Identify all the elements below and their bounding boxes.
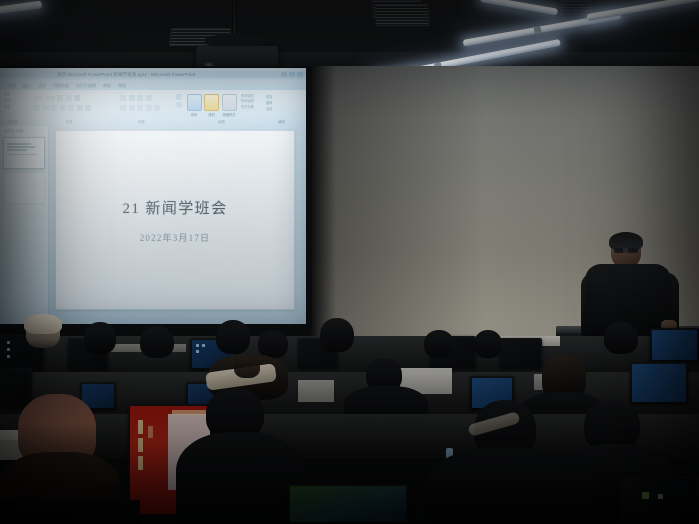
classroom-photo: 演示 Microsoft PowerPoint 新闻学班会.pptx - Mic… <box>0 0 699 524</box>
thumbnail-rule <box>7 154 37 155</box>
bullets-icon[interactable] <box>120 95 126 101</box>
shapes-label: 形状 <box>187 112 202 117</box>
ribbon-group-label-paragraph: 段落 <box>138 119 145 124</box>
clipboard-copy-label[interactable]: 复制 <box>4 105 10 109</box>
arrange-icon[interactable] <box>204 94 219 111</box>
window-buttons[interactable] <box>281 72 303 77</box>
student-head <box>320 318 354 352</box>
student-head <box>424 330 454 358</box>
monitor-screen <box>652 330 697 360</box>
monitor-screen <box>290 486 406 522</box>
projector-mount-pole <box>232 0 237 38</box>
arrange-label: 排列 <box>204 112 219 117</box>
desktop-icon <box>196 344 199 347</box>
student-monitor <box>620 476 699 524</box>
ribbon-group-label-clipboard: 剪贴板 <box>8 119 18 124</box>
slide-thumbnail-1[interactable] <box>3 137 45 169</box>
thumbnail-text-lines <box>7 143 35 151</box>
desktop-icon <box>7 348 10 351</box>
instructor-glasses <box>614 248 638 253</box>
monitor-text-line <box>148 426 153 438</box>
ribbon[interactable]: 粘贴 剪切 复制 剪贴板 <box>0 90 306 127</box>
tab-design[interactable]: 设计 <box>38 83 46 89</box>
justify-icon[interactable] <box>146 105 152 111</box>
monitor-screen <box>502 340 540 366</box>
student-monitor <box>500 338 542 368</box>
tab-slideshow[interactable]: 幻灯片放映 <box>76 83 96 89</box>
student-head <box>604 322 638 354</box>
tab-home[interactable]: 开始 <box>8 83 16 89</box>
tab-view[interactable]: 视图 <box>118 83 126 89</box>
ribbon-group-drawing: 形状 排列 快速样式 形状填充 形状轮廓 形 <box>176 92 260 124</box>
slide-panel-header: 幻灯片 大纲 <box>4 129 23 134</box>
desktop-icon <box>658 494 663 499</box>
close-icon[interactable] <box>297 72 303 77</box>
desktop-icon <box>7 355 10 358</box>
student-head <box>474 330 502 358</box>
bold-icon[interactable] <box>34 105 40 111</box>
air-conditioning-vent <box>374 4 430 26</box>
student-beanie-hat <box>24 314 62 334</box>
monitor-text-line <box>138 456 143 470</box>
ribbon-group-clipboard: 粘贴 剪切 复制 剪贴板 <box>4 92 26 124</box>
font-size-dropdown[interactable] <box>46 96 55 101</box>
shape-fill-label[interactable]: 形状填充 <box>241 94 254 98</box>
strikethrough-icon[interactable] <box>68 105 74 111</box>
foreground-shadow <box>0 500 140 524</box>
italic-icon[interactable] <box>43 105 49 111</box>
character-spacing-icon[interactable] <box>77 105 83 111</box>
monitor-screen <box>632 364 686 402</box>
tab-review[interactable]: 审阅 <box>103 83 111 89</box>
powerpoint-window: 演示 Microsoft PowerPoint 新闻学班会.pptx - Mic… <box>0 68 306 324</box>
shape-outline-label[interactable]: 形状轮廓 <box>241 99 254 103</box>
align-right-icon[interactable] <box>137 105 143 111</box>
shadow-icon[interactable] <box>60 105 66 111</box>
ribbon-tab-strip[interactable]: 开始 插入 设计 切换动画 幻灯片放映 审阅 视图 <box>0 81 306 90</box>
student-head <box>84 322 116 354</box>
monitor-screen <box>622 478 697 522</box>
desktop-icon <box>196 350 199 353</box>
shape-effects-label[interactable]: 形状效果 <box>241 105 254 109</box>
current-slide[interactable]: 21 新闻学班会 2022年3月17日 <box>55 130 295 310</box>
student-head <box>258 330 288 358</box>
air-conditioning-vent <box>560 0 592 14</box>
slide-stage: 21 新闻学班会 2022年3月17日 <box>49 126 306 324</box>
ribbon-group-editing: 查找 替换 选择 编辑 <box>266 92 302 124</box>
clear-formatting-icon[interactable] <box>74 95 80 101</box>
monitor-text-line <box>138 420 143 434</box>
desktop-icon <box>7 341 10 344</box>
font-color-icon[interactable] <box>85 105 91 111</box>
numbering-icon[interactable] <box>129 95 135 101</box>
increase-font-icon[interactable] <box>57 95 63 101</box>
monitor-text-line <box>172 410 206 415</box>
increase-indent-icon[interactable] <box>146 95 152 101</box>
monitor-screen <box>2 370 30 406</box>
ribbon-group-label-drawing: 绘图 <box>218 119 225 124</box>
student-shoulders <box>176 432 304 524</box>
student-monitor <box>630 362 688 404</box>
desktop-icon <box>642 492 649 499</box>
powerpoint-title-text: 演示 Microsoft PowerPoint 新闻学班会.pptx - Mic… <box>57 72 195 78</box>
projection-screen: 演示 Microsoft PowerPoint 新闻学班会.pptx - Mic… <box>0 68 306 324</box>
decrease-font-icon[interactable] <box>66 95 72 101</box>
student-monitor <box>650 328 699 362</box>
quick-styles-icon[interactable] <box>222 94 237 111</box>
tab-transitions[interactable]: 切换动画 <box>53 83 69 89</box>
student-monitor <box>0 368 32 408</box>
slide-thumbnail-panel[interactable]: 幻灯片 大纲 <box>0 126 49 324</box>
student-head <box>140 326 174 358</box>
student-head <box>216 320 250 354</box>
shapes-gallery-icon[interactable] <box>187 94 202 111</box>
ribbon-group-label-font: 字体 <box>66 119 73 124</box>
find-label[interactable]: 查找 <box>266 95 302 99</box>
minimize-icon[interactable] <box>281 72 287 77</box>
student-head <box>234 356 260 378</box>
desktop-icon <box>202 344 205 347</box>
slide-subtitle-text: 2022年3月17日 <box>56 231 294 244</box>
slide-title-text: 21 新闻学班会 <box>56 197 294 218</box>
select-label[interactable]: 选择 <box>266 107 302 111</box>
instructor <box>575 232 687 336</box>
ribbon-group-font: 字体 <box>34 92 114 124</box>
ribbon-group-label-editing: 编辑 <box>278 119 285 124</box>
shape-list-more-icon[interactable] <box>176 102 182 108</box>
underline-icon[interactable] <box>51 105 57 111</box>
replace-label[interactable]: 替换 <box>266 101 302 105</box>
desk-divider-panel <box>298 380 334 402</box>
clipboard-cut-label[interactable]: 剪切 <box>4 98 10 102</box>
student-monitor <box>288 484 408 524</box>
align-left-icon[interactable] <box>120 105 126 111</box>
ribbon-group-paragraph: 段落 <box>120 92 172 124</box>
maximize-icon[interactable] <box>289 72 295 77</box>
shape-list-icon[interactable] <box>176 94 182 100</box>
monitor-text-line <box>138 438 143 452</box>
line-spacing-icon[interactable] <box>154 105 160 111</box>
clipboard-paste-label[interactable]: 粘贴 <box>4 92 10 96</box>
slide-thumbnail-2[interactable] <box>3 172 45 204</box>
font-name-dropdown[interactable] <box>34 96 43 101</box>
align-center-icon[interactable] <box>129 105 135 111</box>
decrease-indent-icon[interactable] <box>137 95 143 101</box>
tab-insert[interactable]: 插入 <box>23 83 31 89</box>
quick-styles-label: 快速样式 <box>222 112 237 117</box>
tube-light-cap <box>534 26 542 34</box>
